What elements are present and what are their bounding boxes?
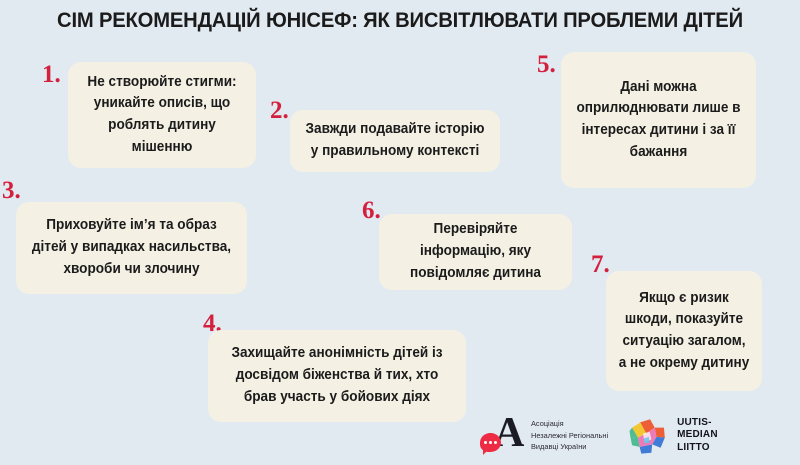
association-logo-text: Асоціація Незалежні Регіональні Видавці … bbox=[531, 418, 608, 452]
recommendation-number-7: 7. bbox=[591, 252, 610, 277]
footer-logos: A Асоціація Незалежні Регіональні Видавц… bbox=[480, 408, 790, 463]
bubble-dot bbox=[484, 441, 487, 444]
uutis-logo-text: UUTIS- MEDIAN LIITTO bbox=[677, 417, 718, 454]
recommendation-number-5: 5. bbox=[537, 52, 556, 77]
bubble-dot bbox=[494, 441, 497, 444]
association-line-2: Незалежні Регіональні bbox=[531, 430, 608, 441]
uutis-line-3: LIITTO bbox=[677, 442, 718, 454]
recommendation-text-5: Дані можна оприлюднювати лише в інтереса… bbox=[566, 77, 751, 164]
association-line-1: Асоціація bbox=[531, 418, 608, 429]
uutis-median-liitto-logo: UUTIS- MEDIAN LIITTO bbox=[626, 415, 718, 457]
recommendation-text-6: Перевіряйте інформацію, яку повідомляє д… bbox=[384, 219, 567, 284]
uutis-line-1: UUTIS- bbox=[677, 417, 718, 429]
recommendation-text-3: Приховуйте ім’я та образ дітей у випадка… bbox=[22, 215, 241, 280]
uutis-line-2: MEDIAN bbox=[677, 429, 718, 441]
page-title: СІМ РЕКОМЕНДАЦІЙ ЮНІСЕФ: ЯК ВИСВІТЛЮВАТИ… bbox=[24, 8, 776, 33]
recommendation-text-4: Захищайте анонімність дітей із досвідом … bbox=[214, 343, 459, 408]
recommendation-number-1: 1. bbox=[42, 62, 61, 87]
recommendation-card-6: Перевіряйте інформацію, яку повідомляє д… bbox=[379, 214, 572, 290]
bubble-dot bbox=[489, 441, 492, 444]
recommendation-card-3: Приховуйте ім’я та образ дітей у випадка… bbox=[16, 202, 247, 294]
recommendation-card-5: Дані можна оприлюднювати лише в інтереса… bbox=[561, 52, 756, 188]
colorful-flower-icon bbox=[626, 415, 670, 457]
speech-bubble-icon bbox=[480, 433, 501, 452]
recommendation-card-4: Захищайте анонімність дітей із досвідом … bbox=[208, 330, 466, 422]
recommendation-card-1: Не створюйте стигми: уникайте описів, що… bbox=[68, 62, 256, 168]
association-mark: A bbox=[480, 414, 526, 458]
recommendation-number-6: 6. bbox=[362, 198, 381, 223]
recommendation-text-2: Завжди подавайте історію у правильному к… bbox=[295, 119, 495, 162]
recommendation-number-2: 2. bbox=[270, 98, 289, 123]
recommendation-card-2: Завжди подавайте історію у правильному к… bbox=[290, 110, 500, 172]
infographic-root: СІМ РЕКОМЕНДАЦІЙ ЮНІСЕФ: ЯК ВИСВІТЛЮВАТИ… bbox=[0, 0, 800, 465]
recommendation-card-7: Якщо є ризик шкоди, показуйте ситуацію з… bbox=[606, 271, 762, 391]
association-logo: A Асоціація Незалежні Регіональні Видавц… bbox=[480, 414, 608, 458]
recommendation-text-1: Не створюйте стигми: уникайте описів, що… bbox=[73, 72, 252, 159]
recommendation-number-3: 3. bbox=[2, 178, 21, 203]
recommendation-text-7: Якщо є ризик шкоди, показуйте ситуацію з… bbox=[610, 288, 758, 375]
association-line-3: Видавці України bbox=[531, 441, 608, 452]
